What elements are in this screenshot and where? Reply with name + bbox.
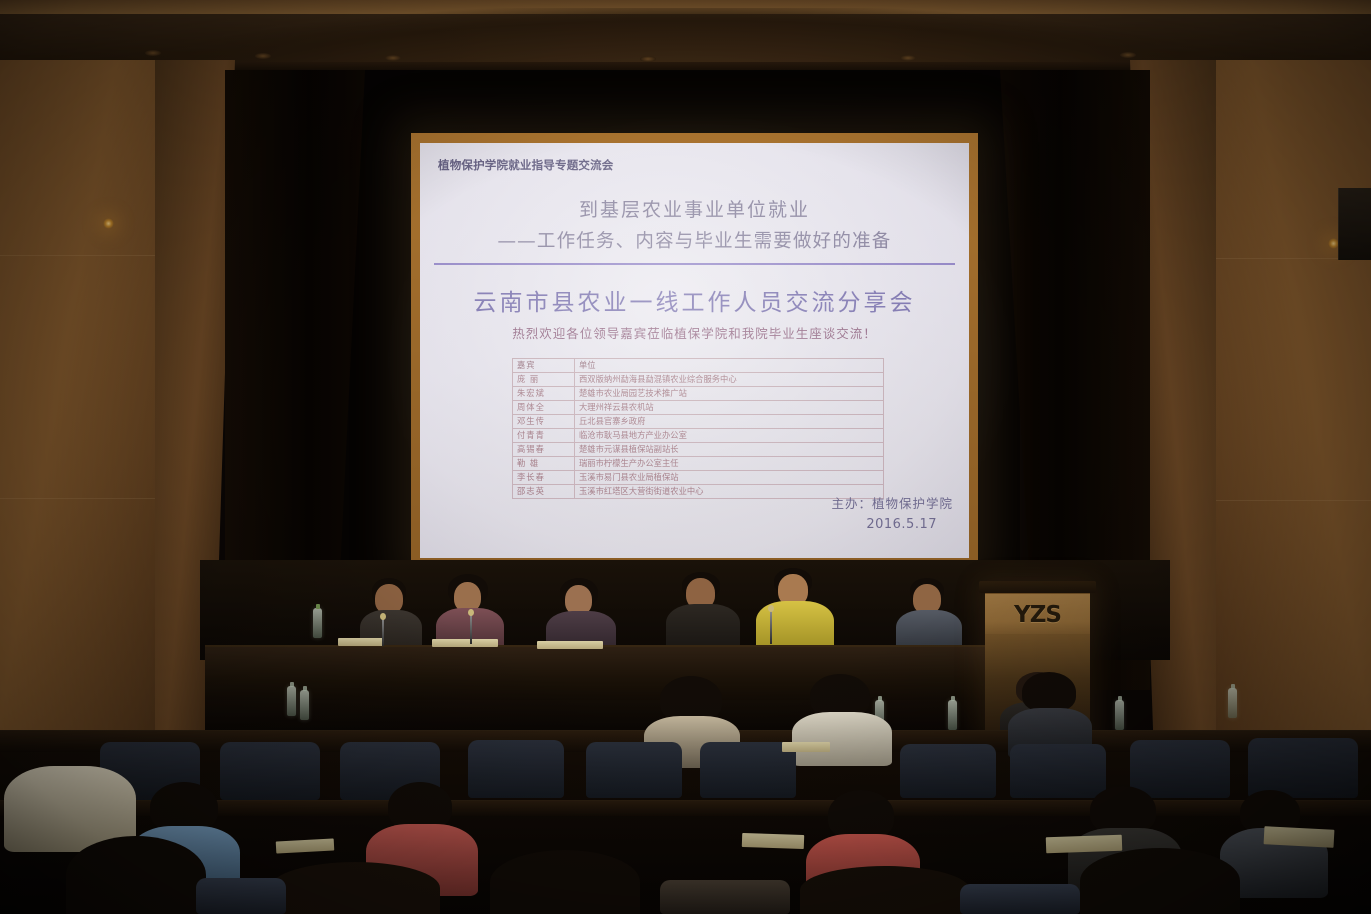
seat[interactable] [586,742,682,798]
table-row: 庞 丽 西双版纳州勐海县勐混镇农业综合服务中心 [513,373,884,387]
hair [490,850,640,914]
microphone-icon [470,614,472,644]
water-bottle [287,686,296,716]
panel-papers [537,641,603,649]
cell-guest-unit: 瑞丽市柠檬生产办公室主任 [575,457,884,471]
ceiling-downlight-icon [1120,52,1136,58]
wall-seam [0,255,170,256]
cell-guest-unit: 玉溪市易门县农业局植保站 [575,471,884,485]
audience-papers [1264,826,1335,848]
panel-desk [205,645,1005,703]
table-row: 高锡春 楚雄市元谋县植保站副站长 [513,443,884,457]
slide-main-title: 云南市县农业一线工作人员交流分享会 [420,283,969,317]
cell-guest-name: 朱宏斌 [513,387,575,401]
audience-papers [1046,835,1123,854]
slide-subtitle-line1: 到基层农业事业单位就业 [420,195,969,222]
slide-welcome-text: 热烈欢迎各位领导嘉宾莅临植保学院和我院毕业生座谈交流！ [420,323,969,342]
podium-top [979,581,1096,593]
ceiling-downlight-icon [385,55,401,61]
cell-guest-unit: 西双版纳州勐海县勐混镇农业综合服务中心 [575,373,884,387]
table-row: 周体全 大理州祥云县农机站 [513,401,884,415]
hair [270,862,440,914]
seat-foreground[interactable] [960,884,1080,914]
cell-guest-name: 庞 丽 [513,373,575,387]
table-row: 李长春 玉溪市易门县农业局植保站 [513,471,884,485]
seat[interactable] [220,742,320,800]
slide-host-label: 主办：植物保护学院 [831,493,953,512]
cell-guest-name: 邵志英 [513,485,575,499]
hair [800,866,970,914]
hair [828,790,894,840]
water-bottle [948,700,957,730]
wall-loudspeaker [1338,188,1371,260]
wall-seam [0,498,170,499]
slide-date: 2016.5.17 [866,517,937,532]
ceiling-downlight-icon [640,56,656,62]
torso [792,712,892,766]
table-row: 勒 雄 瑞丽市柠檬生产办公室主任 [513,457,884,471]
ceiling-downlight-icon [900,55,916,61]
cell-guest-unit: 楚雄市元谋县植保站副站长 [575,443,884,457]
hair [1022,672,1076,712]
water-bottle [300,690,309,720]
cell-guest-name: 周体全 [513,401,575,415]
wall-seam [1200,500,1371,501]
cell-guest-name: 勒 雄 [513,457,575,471]
microphone-icon [382,618,384,646]
table-header-unit: 单位 [575,359,884,373]
audience-papers [782,742,830,752]
seat[interactable] [468,740,564,798]
hair [1080,848,1240,914]
guest-table: 嘉宾 单位 庞 丽 西双版纳州勐海县勐混镇农业综合服务中心 朱宏斌 楚雄市农业局… [512,358,884,499]
cell-guest-name: 李长春 [513,471,575,485]
cell-guest-unit: 丘北县官寨乡政府 [575,415,884,429]
hair [388,782,452,830]
audience-papers [742,833,804,849]
seat[interactable] [1010,744,1106,798]
table-row: 邓生传 丘北县官寨乡政府 [513,415,884,429]
table-row: 付青青 临沧市耿马县地方产业办公室 [513,429,884,443]
ceiling-downlight-icon [255,53,271,59]
table-header-guest: 嘉宾 [513,359,575,373]
cell-guest-name: 付青青 [513,429,575,443]
ceiling-downlight-icon [145,50,161,56]
water-bottle [1228,688,1237,718]
slide-divider-rule [434,263,955,265]
table-header-row: 嘉宾 单位 [513,359,884,373]
hair [1090,786,1156,834]
slide-kicker: 植物保护学院就业指导专题交流会 [438,157,614,173]
panel-papers [432,639,498,647]
wall-sconce-icon [103,218,114,229]
table-row: 邵志英 玉溪市红塔区大营街街道农业中心 [513,485,884,499]
seat[interactable] [900,744,996,798]
projection-screen-frame: 植物保护学院就业指导专题交流会 到基层农业事业单位就业 ——工作任务、内容与毕业… [411,133,978,570]
cell-guest-name: 高锡春 [513,443,575,457]
hair [66,836,206,914]
microphone-icon [770,610,772,644]
cell-guest-unit: 楚雄市农业局园艺技术推广站 [575,387,884,401]
panel-papers [338,638,384,646]
cell-guest-unit: 临沧市耿马县地方产业办公室 [575,429,884,443]
seat-foreground[interactable] [196,878,286,914]
cell-guest-unit: 大理州祥云县农机站 [575,401,884,415]
water-bottle [313,608,322,638]
auditorium-scene: 植物保护学院就业指导专题交流会 到基层农业事业单位就业 ——工作任务、内容与毕业… [0,0,1371,914]
seat[interactable] [1130,740,1230,798]
projected-slide: 植物保护学院就业指导专题交流会 到基层农业事业单位就业 ——工作任务、内容与毕业… [420,143,969,558]
cell-guest-name: 邓生传 [513,415,575,429]
hair [150,782,218,832]
podium-logo: YZS [985,602,1090,628]
table-row: 朱宏斌 楚雄市农业局园艺技术推广站 [513,387,884,401]
seat-foreground[interactable] [660,880,790,914]
slide-subtitle-line2: ——工作任务、内容与毕业生需要做好的准备 [420,227,969,253]
seat[interactable] [1248,738,1358,798]
water-bottle [1115,700,1124,730]
